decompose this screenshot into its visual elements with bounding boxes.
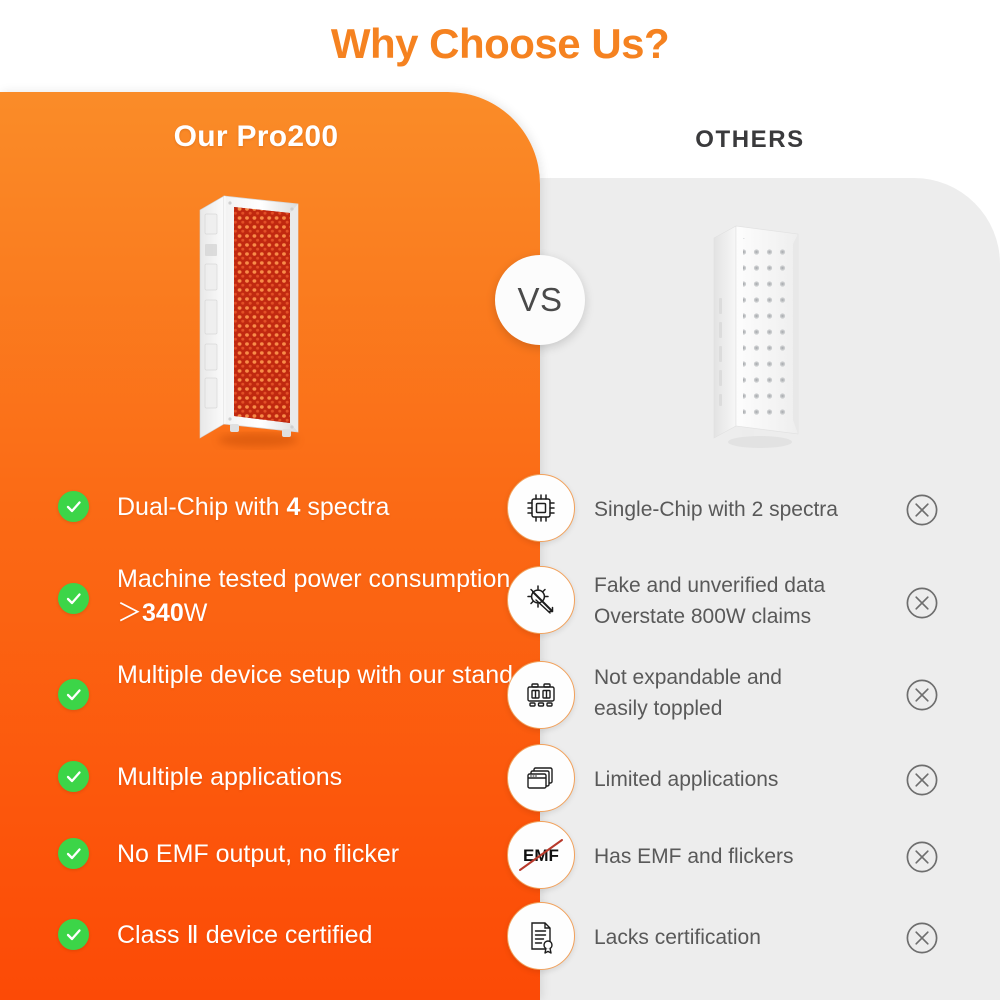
check-icon — [58, 583, 89, 614]
others-feature-text: Lacks certification — [594, 922, 894, 953]
x-circle-icon — [903, 838, 941, 876]
certificate-icon — [507, 902, 575, 970]
x-circle-icon — [903, 491, 941, 529]
windows-stack-icon — [507, 744, 575, 812]
others-feature-text: Not expandable and easily toppled — [594, 662, 894, 724]
others-feature-text: Has EMF and flickers — [594, 841, 894, 872]
ours-feature-text: Class Ⅱ device certified — [117, 918, 517, 952]
x-circle-icon — [903, 676, 941, 714]
infographic-canvas: Why Choose Us? Our Pro200 OTHERS — [0, 0, 1000, 1000]
check-icon — [58, 491, 89, 522]
check-icon — [58, 838, 89, 869]
ours-feature-text: Machine tested power consumption ＞340W — [117, 562, 517, 630]
x-circle-icon — [903, 584, 941, 622]
vs-label: VS — [517, 281, 562, 319]
ours-feature-text: Multiple applications — [117, 760, 517, 794]
x-circle-icon — [903, 761, 941, 799]
others-feature-text: Limited applications — [594, 764, 894, 795]
ours-feature-text: Multiple device setup with our stand — [117, 658, 517, 692]
check-icon — [58, 679, 89, 710]
ours-feature-text: No EMF output, no flicker — [117, 837, 517, 871]
ours-feature-text: Dual-Chip with 4 spectra — [117, 490, 517, 524]
vs-badge: VS — [495, 255, 585, 345]
others-feature-text: Single-Chip with 2 spectra — [594, 494, 894, 525]
emf-blocked-icon: EMF — [507, 821, 575, 889]
chip-icon — [507, 474, 575, 542]
check-icon — [58, 919, 89, 950]
stand-device-icon — [507, 661, 575, 729]
comparison-rows: Dual-Chip with 4 spectra Single-Chip wit… — [0, 0, 1000, 1000]
others-feature-text: Fake and unverified data Overstate 800W … — [594, 570, 894, 632]
light-measure-icon — [507, 566, 575, 634]
x-circle-icon — [903, 919, 941, 957]
check-icon — [58, 761, 89, 792]
